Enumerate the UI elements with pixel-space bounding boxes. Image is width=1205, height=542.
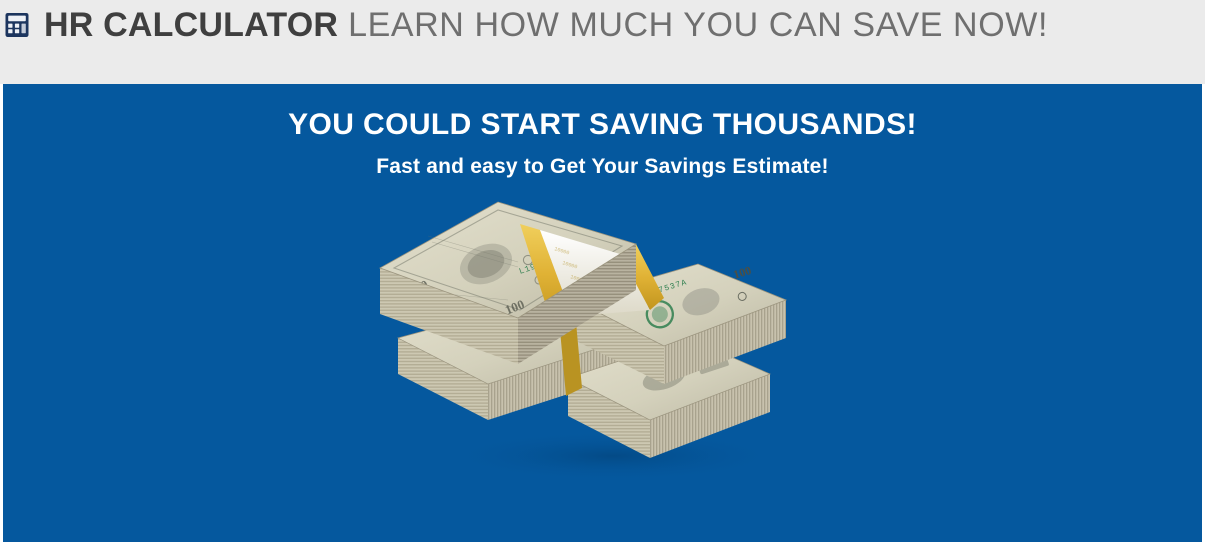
cash-stack-middle-right: 7537A 100 100 <box>574 259 786 384</box>
cash-stack-top: 100 100 L19820931 <box>380 202 664 364</box>
page-title-light: LEARN HOW MUCH YOU CAN SAVE NOW! <box>348 6 1048 44</box>
svg-text:L19820931: L19820931 <box>517 250 570 277</box>
currency-wrapper <box>540 230 650 316</box>
svg-text:10000: 10000 <box>577 288 594 298</box>
hero-image-container: 7537A 100 100 <box>3 188 1202 488</box>
svg-text:100: 100 <box>502 296 526 317</box>
cash-stack-bottom-left <box>398 300 630 420</box>
calculator-icon <box>4 12 30 38</box>
currency-band-top <box>520 224 572 324</box>
currency-band-right <box>620 244 664 310</box>
hero-panel: YOU COULD START SAVING THOUSANDS! Fast a… <box>3 84 1202 542</box>
svg-text:100: 100 <box>406 277 430 298</box>
page-header: HR CALCULATORLEARN HOW MUCH YOU CAN SAVE… <box>0 0 1205 84</box>
hr-calculator-landing-page: HR CALCULATORLEARN HOW MUCH YOU CAN SAVE… <box>0 0 1205 542</box>
svg-text:10000: 10000 <box>585 302 602 312</box>
svg-text:10000: 10000 <box>569 274 586 284</box>
page-title-strong: HR CALCULATOR <box>44 6 338 44</box>
svg-text:100: 100 <box>731 263 752 282</box>
svg-text:10000: 10000 <box>553 246 570 256</box>
page-title: HR CALCULATORLEARN HOW MUCH YOU CAN SAVE… <box>44 3 1048 47</box>
svg-text:100: 100 <box>625 335 646 354</box>
cash-stack-bottom-right <box>568 338 770 458</box>
stacked-cash-image: 7537A 100 100 <box>368 188 838 488</box>
header-brand: HR CALCULATORLEARN HOW MUCH YOU CAN SAVE… <box>0 0 1048 48</box>
hero-headline: YOU COULD START SAVING THOUSANDS! <box>3 106 1202 144</box>
currency-band-lower <box>558 300 582 396</box>
svg-text:10000: 10000 <box>561 260 578 270</box>
svg-text:7537A: 7537A <box>657 278 688 295</box>
hero-subheadline: Fast and easy to Get Your Savings Estima… <box>3 152 1202 182</box>
